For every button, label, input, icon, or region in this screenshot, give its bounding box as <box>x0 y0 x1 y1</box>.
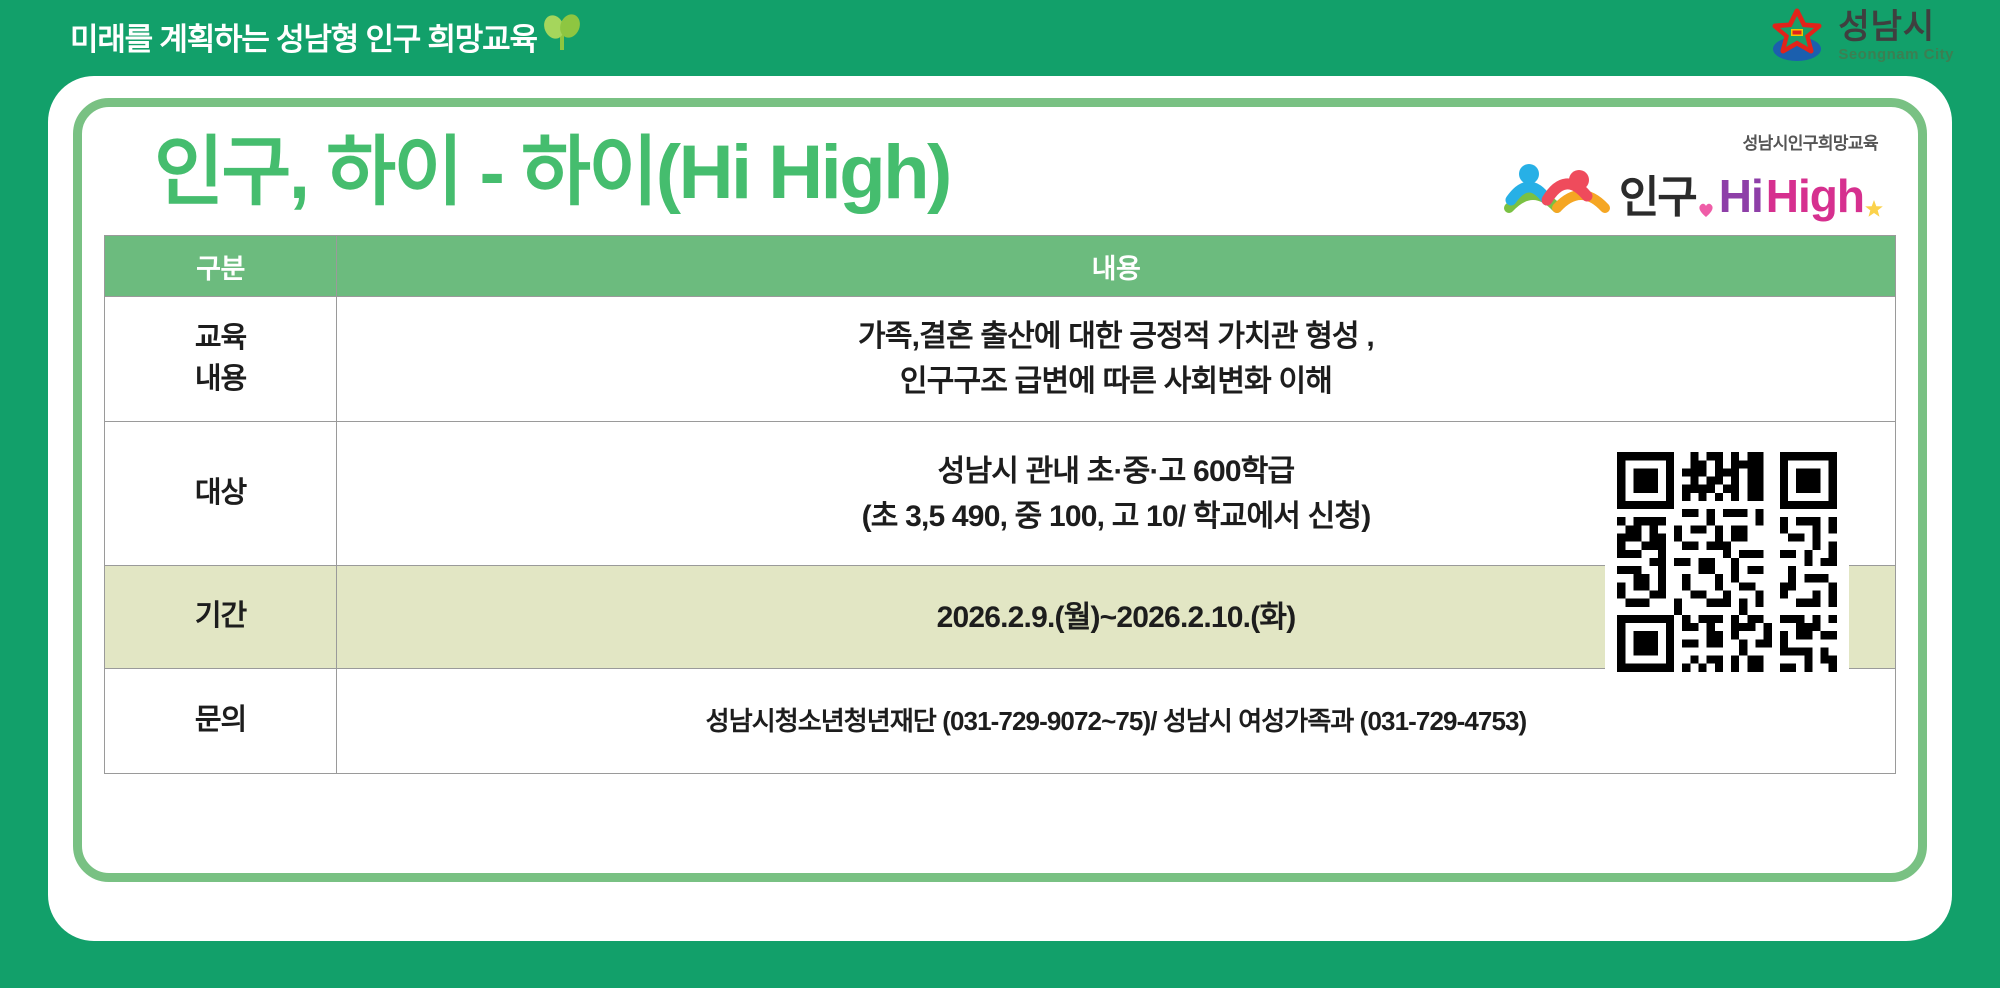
row-label-education-line2: 내용 <box>105 359 336 400</box>
brand-row: 인구 Hi High <box>1503 156 1884 219</box>
headline-row: 인구, 하이 - 하이(Hi High) 성남시인구희망교육 <box>82 107 1918 235</box>
people-figures-icon <box>1503 156 1611 219</box>
city-name-en: Seongnam City <box>1838 47 1954 62</box>
table-row-education: 교육 내용 가족,결혼 출산에 대한 긍정적 가치관 형성 , 인구구조 급변에… <box>105 297 1896 422</box>
page-title: 인구, 하이 - 하이(Hi High) <box>154 135 950 211</box>
sprout-icon <box>541 10 585 62</box>
city-name-ko: 성남시 <box>1838 10 1954 44</box>
info-table: 구분 내용 교육 내용 가족,결혼 출산에 대한 긍정적 가치관 형성 , <box>104 235 1896 774</box>
row-label-contact: 문의 <box>105 669 337 774</box>
row-label-education: 교육 내용 <box>105 297 337 422</box>
city-name-block: 성남시 Seongnam City <box>1838 10 1954 62</box>
banner-title: 미래를 계획하는 성남형 인구 희망교육 <box>70 10 585 62</box>
brand-tagline: 성남시인구희망교육 <box>1743 129 1878 154</box>
banner-title-text: 미래를 계획하는 성남형 인구 희망교육 <box>70 14 537 59</box>
row-label-target: 대상 <box>105 422 337 566</box>
program-brand-logo: 성남시인구희망교육 <box>1503 129 1884 219</box>
table-header-content: 내용 <box>337 236 1896 297</box>
seongnam-flower-emblem-icon <box>1766 3 1828 70</box>
row-label-education-line1: 교육 <box>105 318 336 359</box>
education-content-line2: 인구구조 급변에 따른 사회변화 이해 <box>355 359 1877 404</box>
brand-wordmark: 인구 Hi High <box>1619 175 1884 219</box>
row-content-education: 가족,결혼 출산에 대한 긍정적 가치관 형성 , 인구구조 급변에 따른 사회… <box>337 297 1896 422</box>
card-inner-frame: 인구, 하이 - 하이(Hi High) 성남시인구희망교육 <box>73 98 1927 882</box>
row-label-period: 기간 <box>105 566 337 669</box>
education-content-line1: 가족,결혼 출산에 대한 긍정적 가치관 형성 , <box>355 314 1877 359</box>
table-header-row: 구분 내용 <box>105 236 1896 297</box>
table-row-contact: 문의 성남시청소년청년재단 (031-729-9072~75)/ 성남시 여성가… <box>105 669 1896 774</box>
top-banner: 미래를 계획하는 성남형 인구 희망교육 성남시 Seongnam City <box>0 0 2000 72</box>
brand-word-ko: 인구 <box>1619 177 1696 219</box>
contact-content-line1: 성남시청소년청년재단 (031-729-9072~75)/ 성남시 여성가족과 … <box>355 702 1877 741</box>
star-icon <box>1864 199 1884 219</box>
row-content-contact: 성남시청소년청년재단 (031-729-9072~75)/ 성남시 여성가족과 … <box>337 669 1896 774</box>
brand-word-hi: Hi <box>1719 175 1763 219</box>
table-row-target: 대상 성남시 관내 초·중·고 600학급 (초 3,5 490, 중 100,… <box>105 422 1896 566</box>
row-content-target: 성남시 관내 초·중·고 600학급 (초 3,5 490, 중 100, 고 … <box>337 422 1896 566</box>
qr-code-icon[interactable] <box>1605 440 1849 684</box>
brand-word-high: High <box>1766 175 1864 219</box>
city-logo: 성남시 Seongnam City <box>1766 3 1972 70</box>
main-card: 인구, 하이 - 하이(Hi High) 성남시인구희망교육 <box>48 76 1952 941</box>
info-table-wrap: 구분 내용 교육 내용 가족,결혼 출산에 대한 긍정적 가치관 형성 , <box>82 235 1918 774</box>
table-header-category: 구분 <box>105 236 337 297</box>
heart-icon <box>1696 201 1716 219</box>
